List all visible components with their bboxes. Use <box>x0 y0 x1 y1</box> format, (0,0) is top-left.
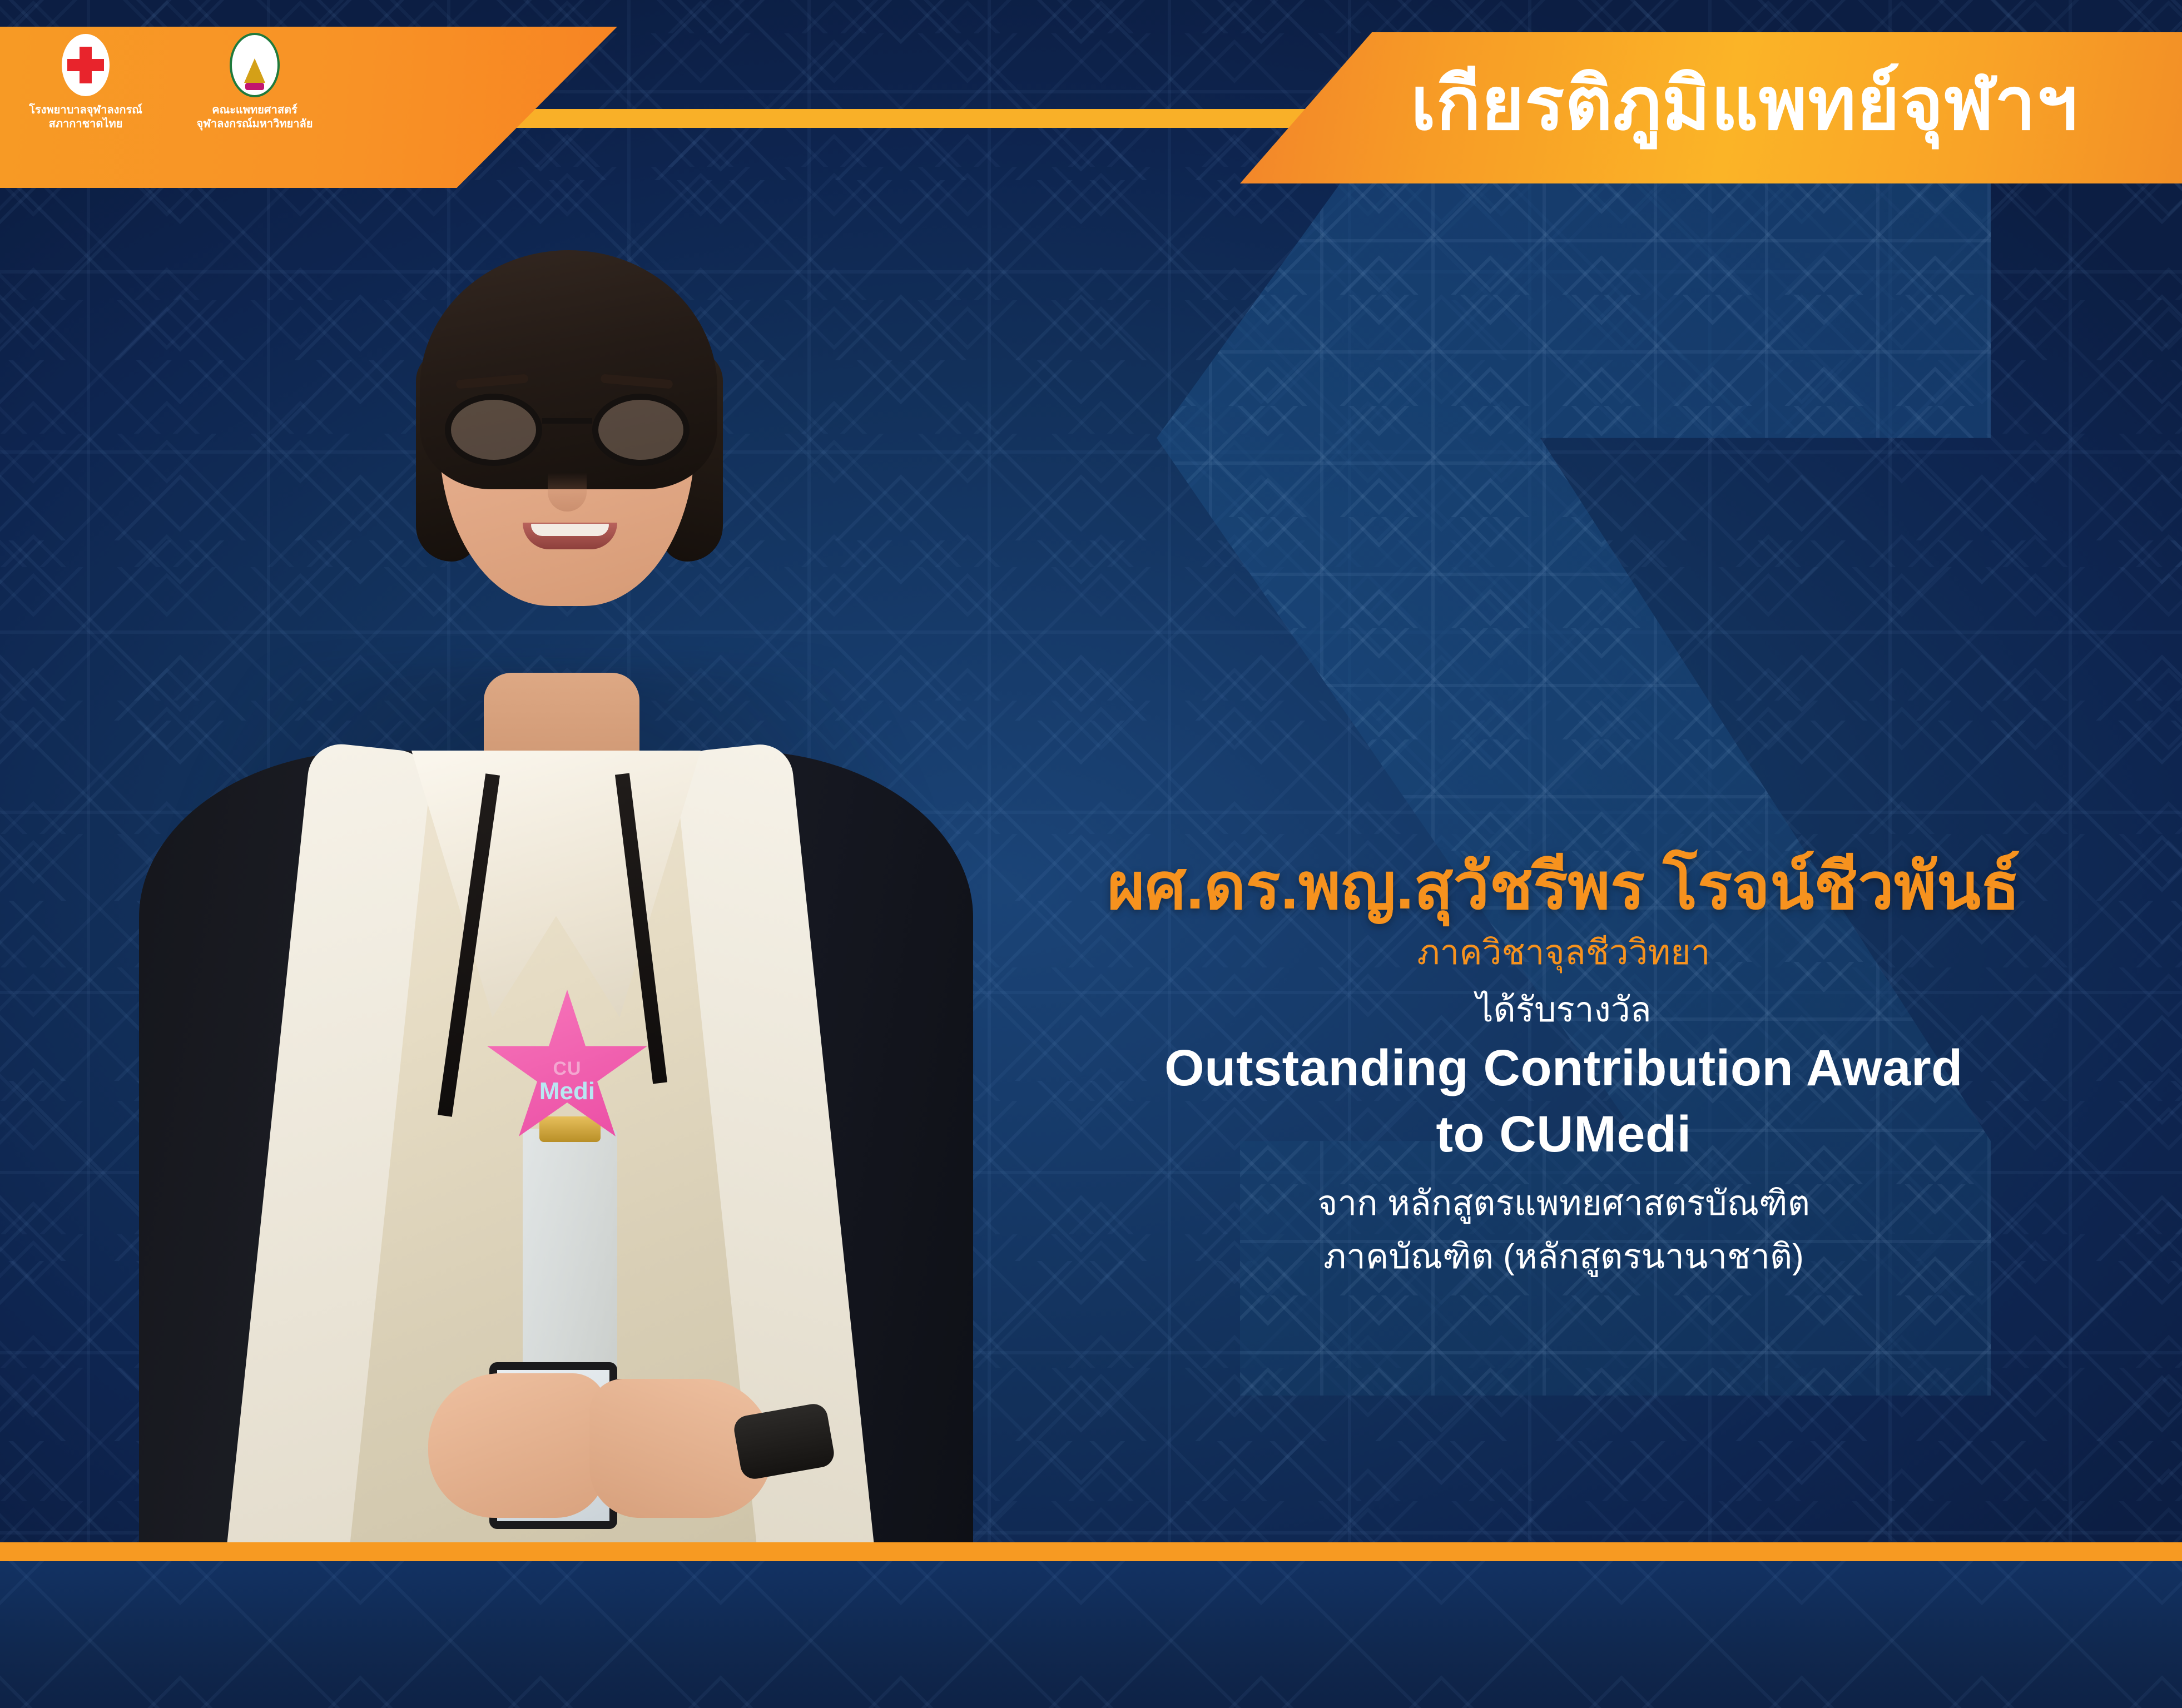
awardee-department: ภาควิชาจุลชีววิทยา <box>945 931 2182 976</box>
star-trophy-line2: Medi <box>539 1078 595 1105</box>
portrait-photo: CU Medi <box>100 183 1012 1568</box>
chulalongkorn-seal-icon <box>188 32 321 98</box>
logo-group: โรงพยาบาลจุฬาลงกรณ์ สภากาชาดไทย คณะแพทยศ… <box>19 32 321 131</box>
award-source-line2: ภาคบัณฑิต (หลักสูตรนานาชาติ) <box>945 1232 2182 1282</box>
received-label: ได้รับรางวัล <box>945 988 2182 1033</box>
award-text-block: ผศ.ดร.พญ.สุวัชรีพร โรจน์ชีวพันธ์ ภาควิชา… <box>945 851 2182 1282</box>
award-title-line2: to CUMedi <box>945 1104 2182 1165</box>
eyeglasses-icon <box>445 394 690 466</box>
logo-red-cross-block: โรงพยาบาลจุฬาลงกรณ์ สภากาชาดไทย <box>19 32 152 131</box>
footer-orange-rule <box>0 1542 2182 1561</box>
award-poster: โรงพยาบาลจุฬาลงกรณ์ สภากาชาดไทย คณะแพทยศ… <box>0 0 2182 1708</box>
logo-chula-label: คณะแพทยศาสตร์ จุฬาลงกรณ์มหาวิทยาลัย <box>188 103 321 131</box>
banner-title-text: เกียรติภูมิแพทย์จุฬาฯ <box>1240 32 2182 183</box>
logo-red-cross-label: โรงพยาบาลจุฬาลงกรณ์ สภากาชาดไทย <box>19 103 152 131</box>
footer-band <box>0 1561 2182 1708</box>
logo-chula-block: คณะแพทยศาสตร์ จุฬาลงกรณ์มหาวิทยาลัย <box>188 32 321 131</box>
awardee-name: ผศ.ดร.พญ.สุวัชรีพร โรจน์ชีวพันธ์ <box>945 851 2182 923</box>
star-trophy-line1: CU <box>553 1058 581 1080</box>
red-cross-icon <box>19 32 152 98</box>
award-source-line1: จาก หลักสูตรแพทยศาสตรบัณฑิต <box>945 1179 2182 1229</box>
award-title-line1: Outstanding Contribution Award <box>945 1038 2182 1099</box>
